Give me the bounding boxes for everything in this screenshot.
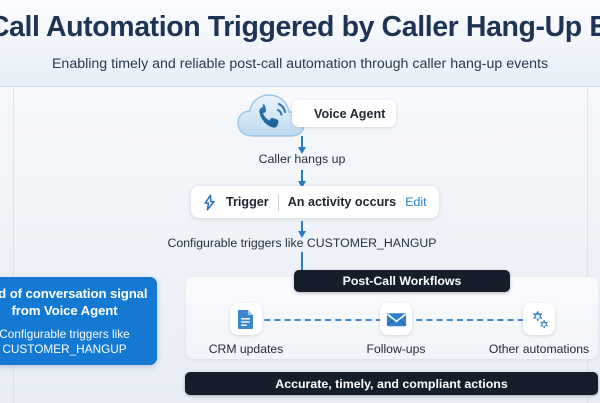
- workflow-item-crm-updates[interactable]: CRM updates: [186, 303, 306, 356]
- callout-title: End of conversation signal from Voice Ag…: [0, 286, 149, 319]
- trigger-description: An activity occurs: [288, 195, 397, 209]
- flow-arrow-1: [301, 136, 303, 148]
- workflow-label: Follow-ups: [336, 342, 456, 356]
- bottom-banner: Accurate, timely, and compliant actions: [185, 372, 598, 395]
- flow-arrow-3: [301, 221, 303, 232]
- voice-agent-label: Voice Agent: [314, 107, 385, 121]
- end-of-conversation-callout: End of conversation signal from Voice Ag…: [0, 277, 157, 365]
- workflow-label: CRM updates: [186, 342, 306, 356]
- page-title: Post-Call Automation Triggered by Caller…: [0, 11, 600, 44]
- workflow-item-other-automations[interactable]: Other automations: [479, 303, 599, 356]
- post-call-workflows-chip: Post-Call Workflows: [294, 270, 510, 292]
- configurable-triggers-label: Configurable triggers like CUSTOMER_HANG…: [0, 236, 600, 250]
- workflows-chip-label: Post-Call Workflows: [343, 274, 462, 288]
- trigger-divider: [278, 194, 279, 211]
- workflow-item-follow-ups[interactable]: Follow-ups: [336, 303, 456, 356]
- document-icon: [230, 303, 262, 335]
- flow-arrow-4: [301, 252, 303, 272]
- voice-agent-node: Voice Agent: [236, 91, 416, 143]
- trigger-edit-link[interactable]: Edit: [405, 195, 426, 209]
- callout-subtitle: Configurable triggers like CUSTOMER_HANG…: [0, 327, 149, 357]
- bottom-banner-label: Accurate, timely, and compliant actions: [275, 377, 508, 391]
- workflow-label: Other automations: [479, 342, 599, 356]
- trigger-label: Trigger: [226, 195, 269, 209]
- caller-hangs-up-label: Caller hangs up: [0, 152, 600, 166]
- lightning-bolt-icon: [201, 194, 218, 211]
- flow-arrow-2: [301, 170, 303, 182]
- trigger-card[interactable]: Trigger An activity occurs Edit: [191, 186, 439, 218]
- envelope-icon: [380, 303, 412, 335]
- infographic-canvas: Post-Call Automation Triggered by Caller…: [0, 0, 600, 403]
- header-band: Post-Call Automation Triggered by Caller…: [0, 0, 600, 87]
- gears-icon: [523, 303, 555, 335]
- page-subtitle: Enabling timely and reliable post-call a…: [52, 56, 548, 72]
- voice-agent-chip[interactable]: Voice Agent: [292, 100, 396, 127]
